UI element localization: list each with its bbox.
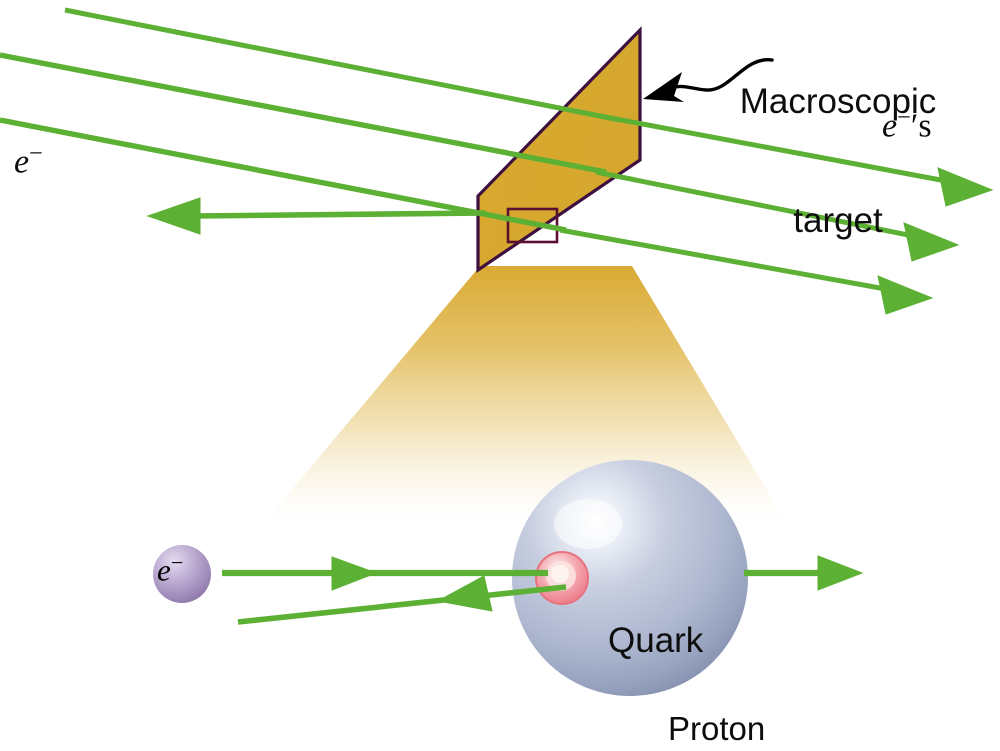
backscatter-beam-arrowhead [148,198,200,234]
incoming-electron-label-symbol: e [14,143,29,180]
lower-incoming-beam-arrowhead [332,557,376,590]
quark-recoils-label-line1: Quark [608,619,808,662]
lower-outgoing-beam-arrowhead [818,556,862,590]
lower-incoming-electron-beam [222,557,548,590]
illumination-cone [256,266,792,532]
lower-backscatter-beam-arrowhead [438,576,492,611]
electron-particle-label-symbol: e [157,552,171,587]
proton-label: Proton [668,710,765,748]
outgoing-electrons-label-charge: − [897,104,911,131]
backscatter-beam-line [194,213,486,216]
outgoing-electrons-label-prime: ′s [911,107,932,144]
incoming-beam-2 [0,55,606,172]
incoming-electron-label-charge: − [29,140,43,167]
outgoing-electrons-label: e−′s [882,104,932,146]
incoming-beam-1 [65,10,620,120]
macroscopic-target-label: Macroscopic target [718,2,958,321]
outgoing-electrons-label-symbol: e [882,107,897,144]
incoming-electron-label: e− [14,140,43,182]
figure-canvas: Macroscopic target e− e−′s Quark recoils… [0,0,1000,751]
electron-particle-label: e− [157,550,183,588]
macroscopic-target-label-line2: target [718,201,958,241]
quark-core-highlight [551,565,569,583]
electron-particle-label-charge: − [171,550,184,575]
